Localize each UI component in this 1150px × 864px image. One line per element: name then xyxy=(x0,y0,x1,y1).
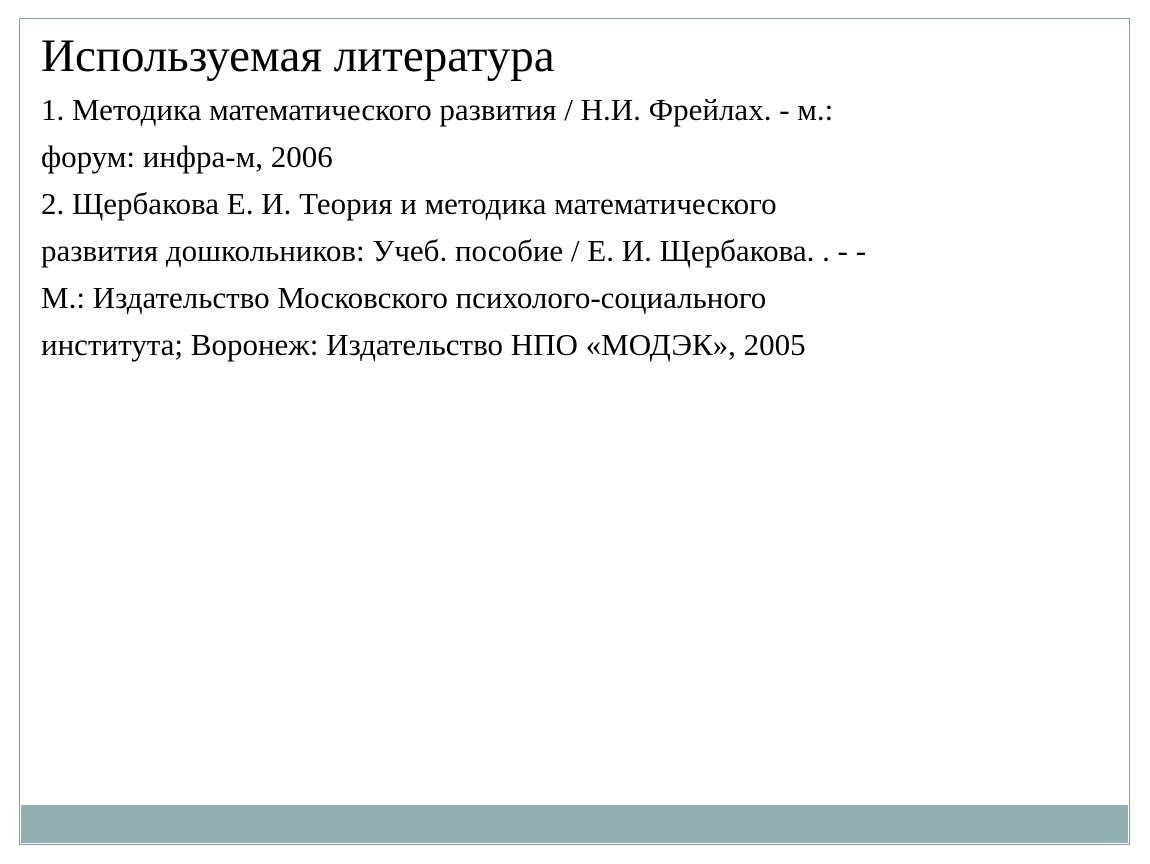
reference-line: 1. Методика математического развития / Н… xyxy=(41,86,1101,133)
reference-line: института; Воронеж: Издательство НПО «МО… xyxy=(41,321,1101,368)
footer-accent-band xyxy=(21,805,1128,843)
reference-line: М.: Издательство Московского психолого-с… xyxy=(41,274,1101,321)
reference-line: форум: инфра-м, 2006 xyxy=(41,133,1101,180)
reference-list: 1. Методика математического развития / Н… xyxy=(41,86,1101,368)
reference-line: развития дошкольников: Учеб. пособие / Е… xyxy=(41,227,1101,274)
page-title: Используемая литература xyxy=(41,28,1101,84)
slide-content: Используемая литература 1. Методика мате… xyxy=(41,28,1101,368)
slide-canvas: Используемая литература 1. Методика мате… xyxy=(0,0,1150,864)
reference-line: 2. Щербакова Е. И. Теория и методика мат… xyxy=(41,180,1101,227)
